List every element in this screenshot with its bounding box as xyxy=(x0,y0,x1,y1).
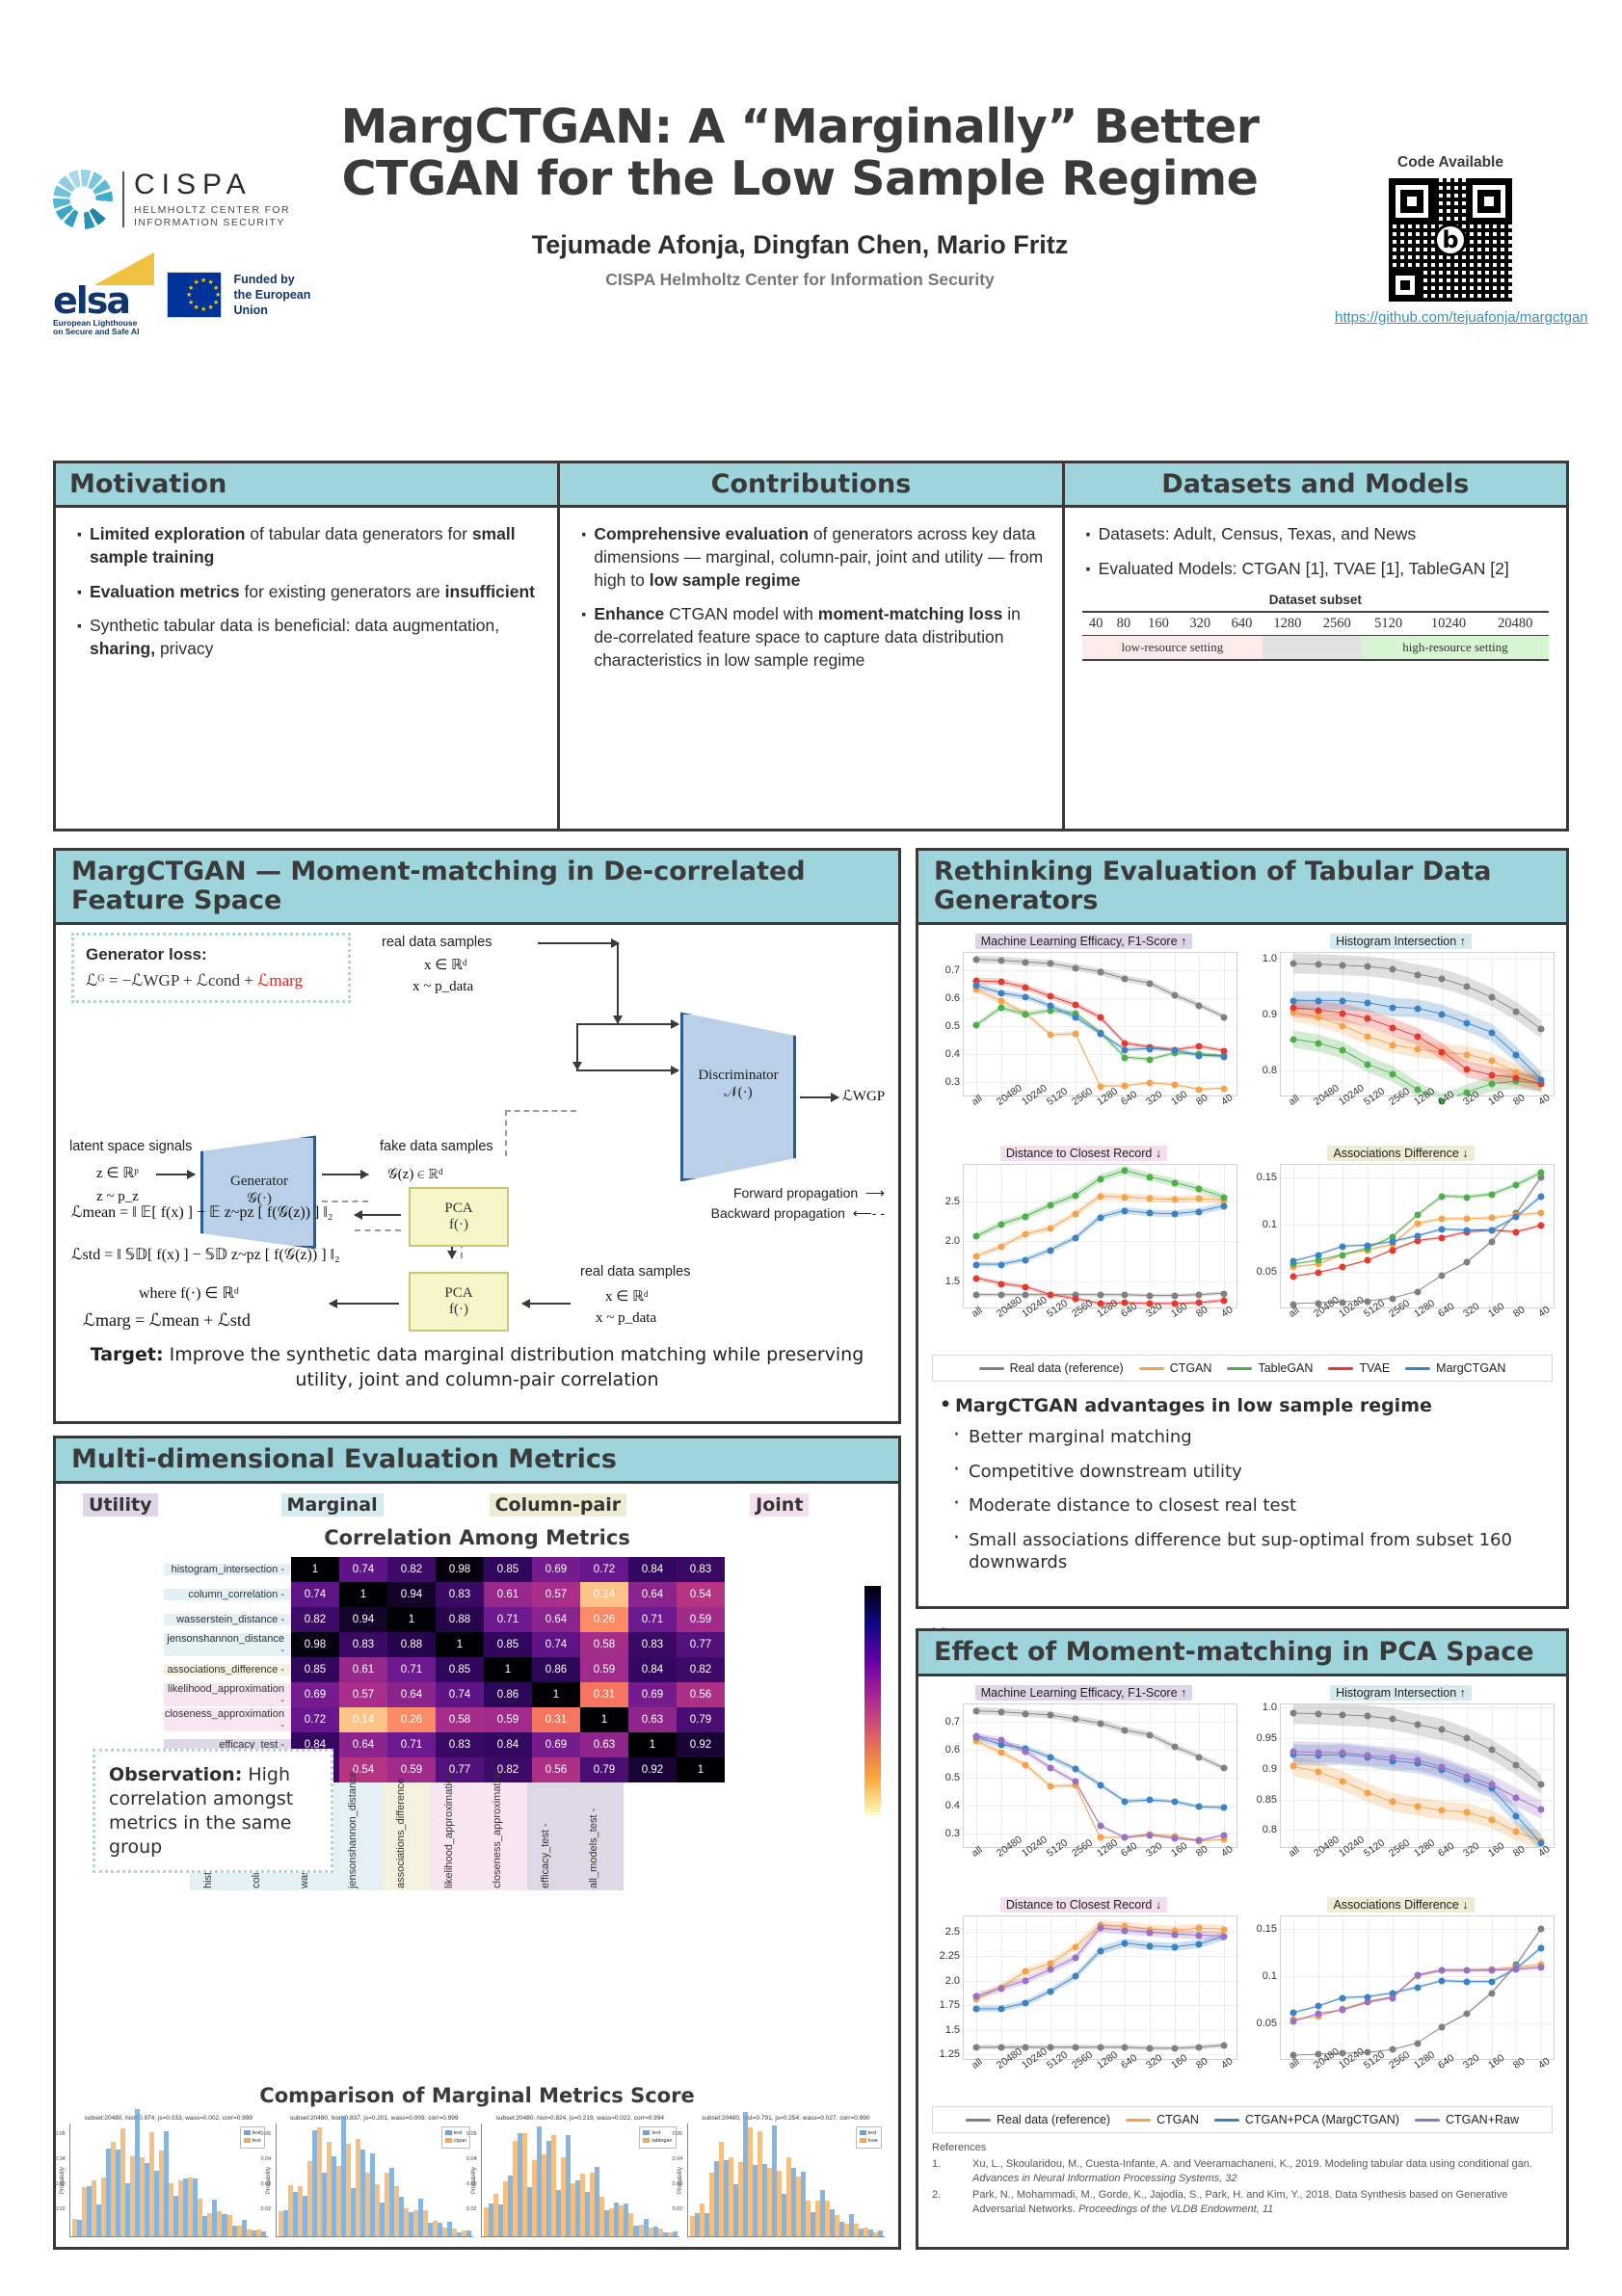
chart-ytick: 1.5 xyxy=(945,1276,960,1287)
heatmap-cell: 0.74 xyxy=(291,1582,339,1607)
chart-data-point xyxy=(1072,1765,1078,1772)
chart-data-point xyxy=(1315,1769,1321,1776)
chart-data-point xyxy=(1171,1931,1178,1938)
chart-data-point xyxy=(1146,1174,1153,1180)
chart-data-point xyxy=(1023,1012,1029,1018)
chart-data-point xyxy=(1439,976,1446,983)
chart-data-point xyxy=(1097,1175,1103,1182)
chart-data-point xyxy=(1048,993,1054,1000)
panel-contributions: Contributions Comprehensive evaluation o… xyxy=(557,463,1061,829)
chart-data-point xyxy=(1365,1713,1371,1720)
chart-data-point xyxy=(1365,1061,1371,1068)
chart-ytick: 0.5 xyxy=(945,1020,960,1032)
chart-data-point xyxy=(1488,1071,1495,1078)
chart-data-point xyxy=(997,998,1004,1005)
chart-data-point xyxy=(1122,1168,1129,1174)
panel-datasets: Datasets and Models Datasets: Adult, Cen… xyxy=(1062,463,1566,829)
rethinking-sub-bullets: Better marginal matchingCompetitive down… xyxy=(940,1426,1545,1573)
heatmap-cell: 0.64 xyxy=(339,1732,387,1757)
chart-data-point xyxy=(1439,1048,1446,1055)
heatmap-cell: 0.14 xyxy=(339,1707,387,1732)
chart-data-point xyxy=(1072,1015,1078,1021)
histogram-bar xyxy=(878,2230,883,2236)
chart-data-point xyxy=(1146,1080,1153,1087)
histogram-ytick: 0.03 xyxy=(55,2181,66,2187)
logo-divider xyxy=(122,172,124,227)
chart-ytick: 0.4 xyxy=(945,1048,960,1060)
histogram-ylabel: Probability xyxy=(678,2166,683,2193)
heatmap-cell: 0.94 xyxy=(339,1607,387,1632)
heatmap-cell: 0.69 xyxy=(532,1557,580,1582)
chart-data-point xyxy=(1488,1227,1495,1234)
heatmap-cell: 0.26 xyxy=(580,1607,628,1632)
forward-prop-label: Forward propagation xyxy=(733,1185,858,1201)
chart-data-point xyxy=(1389,1238,1396,1245)
heatmap-cell: 0.57 xyxy=(532,1582,580,1607)
chart-data-point xyxy=(1340,997,1346,1004)
chart-data-point xyxy=(997,1985,1004,1992)
heatmap-cell: 0.31 xyxy=(532,1707,580,1732)
chart-data-point xyxy=(1315,2011,1321,2018)
heatmap-cell: 0.92 xyxy=(628,1757,677,1782)
dataset-subset-cell: 40 xyxy=(1082,612,1110,636)
chart-data-point xyxy=(1463,1020,1470,1027)
references-list: Xu, L., Skoularidou, M., Cuesta-Infante,… xyxy=(932,2157,1553,2216)
top-panel-row: Motivation Limited exploration of tabula… xyxy=(53,461,1569,831)
heatmap-cell: 1 xyxy=(484,1657,532,1682)
chart-data-point xyxy=(1315,1749,1321,1755)
chart-data-point xyxy=(1122,1054,1129,1061)
chart-title: Distance to Closest Record ↓ xyxy=(1000,1897,1167,1913)
list-item: Evaluated Models: CTGAN [1], TVAE [1], T… xyxy=(1082,558,1549,581)
histogram-caption: subset:20480, hist=0.791, js=0.254, wass… xyxy=(687,2115,886,2122)
dataset-subset-cell: 1280 xyxy=(1263,612,1312,636)
chart-data-point xyxy=(1488,1215,1495,1222)
chart-data-point xyxy=(1023,959,1029,965)
chart-data-point xyxy=(1221,1014,1228,1020)
chart-data-point xyxy=(1072,1943,1078,1950)
chart-data-point xyxy=(1538,1965,1545,1971)
heatmap-cell: 0.31 xyxy=(580,1682,628,1707)
chart-data-point xyxy=(1439,1727,1446,1733)
chart-data-point xyxy=(972,1022,979,1029)
line-chart: Distance to Closest Record ↓1.52.02.5all… xyxy=(930,1147,1237,1349)
chart-data-point xyxy=(1340,1010,1346,1016)
repo-link[interactable]: https://github.com/tejuafonja/margctgan xyxy=(1335,309,1566,328)
list-item: Better marginal matching xyxy=(940,1426,1545,1448)
logo-group: CISPA HELMHOLTZ CENTER FOR INFORMATION S… xyxy=(53,169,323,337)
chart-data-point xyxy=(1072,1002,1078,1009)
chart-data-point xyxy=(1389,1042,1396,1048)
heatmap-cell: 0.84 xyxy=(628,1657,677,1682)
dataset-subset-cell: 80 xyxy=(1109,612,1137,636)
chart-data-point xyxy=(1196,1804,1203,1810)
chart-data-point xyxy=(1488,1238,1495,1245)
chart-data-point xyxy=(1171,1082,1178,1089)
chart-data-point xyxy=(1122,1207,1129,1214)
panel-motivation: Motivation Limited exploration of tabula… xyxy=(56,463,557,829)
legend-item: CTGAN xyxy=(1139,1361,1212,1375)
chart-data-point xyxy=(1146,1832,1153,1838)
motivation-list: Limited exploration of tabular data gene… xyxy=(73,523,540,661)
chart-data-point xyxy=(1072,1211,1078,1218)
heatmap-row-label: histogram_intersection - xyxy=(164,1564,291,1575)
chart-data-point xyxy=(1538,1193,1545,1200)
chart-data-point xyxy=(1097,968,1103,975)
chart-data-point xyxy=(1146,1929,1153,1936)
heatmap-column-label: closeness_approximation - xyxy=(479,1782,527,1890)
heatmap-cell: 0.63 xyxy=(628,1707,677,1732)
chart-data-point xyxy=(1097,1030,1103,1037)
chart-data-point xyxy=(1365,1789,1371,1796)
generator-loss-label: Generator loss: xyxy=(86,945,336,964)
panel-multidim: Multi-dimensional Evaluation Metrics Uti… xyxy=(53,1436,901,2250)
heatmap-cell: 0.69 xyxy=(628,1682,677,1707)
chart-ytick: 0.05 xyxy=(1257,2018,1277,2029)
reference-item: Park, N., Mohammadi, M., Gorde, K., Jajo… xyxy=(932,2188,1553,2217)
chart-data-point xyxy=(1290,1258,1296,1265)
histogram-ytick: 0.04 xyxy=(673,2156,683,2162)
chart-data-point xyxy=(1290,1710,1296,1717)
chart-data-point xyxy=(1221,1290,1228,1297)
chart-data-point xyxy=(1315,1270,1321,1277)
chart-data-point xyxy=(1221,1194,1228,1201)
chart-data-point xyxy=(1146,1045,1153,1052)
rethinking-main-bullet: MargCTGAN advantages in low sample regim… xyxy=(940,1395,1545,1416)
chart-data-point xyxy=(1023,1968,1029,1975)
chart-data-point xyxy=(1315,1040,1321,1046)
chart-data-point xyxy=(1023,1749,1029,1755)
legend-label: CTGAN xyxy=(1157,2113,1199,2126)
histogram-ylabel: Probability xyxy=(60,2166,66,2193)
heatmap-row: histogram_intersection -10.740.820.980.8… xyxy=(164,1557,898,1582)
heatmap-cell: 0.83 xyxy=(339,1632,387,1657)
heatmap-column-label: all_models_test - xyxy=(575,1782,624,1890)
list-item: Comprehensive evaluation of generators a… xyxy=(577,523,1044,592)
chart-data-point xyxy=(1414,1288,1421,1295)
chart-plot-area: 0.050.10.15 xyxy=(1280,1915,1555,2060)
chart-data-point xyxy=(997,1221,1004,1227)
chart-data-point xyxy=(1122,1292,1129,1299)
cispa-wordmark: CISPA xyxy=(134,169,290,201)
chart-ytick: 1.75 xyxy=(940,1999,960,2011)
histogram-plot: Probability0.050.040.030.02testctgan xyxy=(276,2124,474,2237)
legend-label: CTGAN xyxy=(1170,1361,1212,1375)
chart-data-point xyxy=(1048,961,1054,967)
chart-plot-area: 0.80.91.0 xyxy=(1280,952,1555,1096)
chart-data-point xyxy=(1221,1085,1228,1092)
chart-data-point xyxy=(1463,1259,1470,1266)
heatmap-cell: 0.61 xyxy=(339,1657,387,1682)
title-block: MargCTGAN: A “Marginally” Better CTGAN f… xyxy=(289,101,1311,290)
chart-data-point xyxy=(1196,1754,1203,1760)
heatmap-cell: 0.82 xyxy=(387,1557,436,1582)
chart-data-point xyxy=(1122,1194,1129,1201)
heatmap-row-label: wasserstein_distance - xyxy=(164,1614,291,1625)
chart-data-point xyxy=(1538,1925,1545,1932)
legend-label: test xyxy=(454,2130,463,2136)
chart-data-point xyxy=(1389,1994,1396,2001)
chart-data-point xyxy=(1340,1994,1346,2001)
chart-data-point xyxy=(1097,1193,1103,1200)
heatmap-cell: 0.58 xyxy=(580,1632,628,1657)
chart-data-point xyxy=(1513,1829,1520,1835)
chart-data-point xyxy=(1122,1083,1129,1090)
chart-title: Distance to Closest Record ↓ xyxy=(1000,1146,1167,1161)
chart-data-point xyxy=(1513,1008,1520,1015)
heatmap-cell: 0.85 xyxy=(484,1632,532,1657)
chart-data-point xyxy=(1196,1940,1203,1947)
heatmap-row: column_correlation -0.7410.940.830.610.5… xyxy=(164,1582,898,1607)
chart-data-point xyxy=(1463,1967,1470,1974)
chart-data-point xyxy=(1171,1197,1178,1203)
histogram-ytick: 0.05 xyxy=(466,2131,477,2137)
legend-label: test xyxy=(868,2130,877,2136)
chart-data-point xyxy=(1072,1235,1078,1242)
heatmap-cell: 0.69 xyxy=(291,1682,339,1707)
chart-data-point xyxy=(1146,1797,1153,1804)
chart-title: Machine Learning Efficacy, F1-Score ↑ xyxy=(975,1685,1193,1701)
chart-data-point xyxy=(1488,1978,1495,1985)
heatmap-cell: 0.92 xyxy=(677,1732,725,1757)
chart-data-point xyxy=(1097,1947,1103,1954)
chart-data-point xyxy=(1340,1750,1346,1756)
chart-data-point xyxy=(1538,1170,1545,1176)
discriminator-label: Discriminator 𝒩(·) xyxy=(678,1068,798,1101)
chart-data-point xyxy=(1414,1757,1421,1764)
poster-title: MargCTGAN: A “Marginally” Better CTGAN f… xyxy=(289,101,1311,205)
chart-data-point xyxy=(1023,1256,1029,1263)
chart-data-point xyxy=(1048,1966,1054,1973)
heatmap-column-label: jensonshannon_distance - xyxy=(334,1782,383,1890)
comparison-title: Comparison of Marginal Metrics Score xyxy=(56,2084,898,2107)
chart-data-point xyxy=(1023,1710,1029,1717)
chart-data-point xyxy=(1290,1036,1296,1042)
chart-data-point xyxy=(1315,1710,1321,1717)
chart-ytick: 0.9 xyxy=(1263,1763,1277,1775)
legend-label: test xyxy=(253,2138,261,2144)
heatmap-cell: 0.88 xyxy=(436,1607,484,1632)
real-x-dim-bottom: x ∈ ℝᵈ xyxy=(605,1287,649,1306)
chart-data-point xyxy=(1389,1295,1396,1302)
chart-data-point xyxy=(1072,2044,1078,2050)
chart-data-point xyxy=(1171,1943,1178,1950)
chart-data-point xyxy=(1414,1046,1421,1053)
poster-header: CISPA HELMHOLTZ CENTER FOR INFORMATION S… xyxy=(0,0,1622,443)
low-resource-cell: low-resource setting xyxy=(1082,635,1263,660)
chart-data-point xyxy=(1340,963,1346,969)
chart-data-point xyxy=(1439,1764,1446,1771)
legend-item: CTGAN+PCA (MargCTGAN) xyxy=(1214,2113,1399,2126)
chart-data-point xyxy=(1048,1292,1054,1299)
heatmap-cell: 0.59 xyxy=(580,1657,628,1682)
chart-data-point xyxy=(972,1292,979,1299)
heatmap-cell: 0.86 xyxy=(484,1682,532,1707)
chart-data-point xyxy=(1389,1247,1396,1254)
heatmap-cell: 0.83 xyxy=(628,1632,677,1657)
chart-data-point xyxy=(1048,1755,1054,1761)
chart-data-point xyxy=(1048,1783,1054,1790)
chart-data-point xyxy=(1414,1722,1421,1729)
chart-data-point xyxy=(1513,1074,1520,1081)
reference-item: Xu, L., Skoularidou, M., Cuesta-Infante,… xyxy=(932,2157,1553,2186)
chart-data-point xyxy=(972,1993,979,1999)
chart-ytick: 1.0 xyxy=(1263,953,1277,964)
chart-data-point xyxy=(1315,1015,1321,1021)
histogram-bar xyxy=(261,2231,266,2236)
bitly-glyph-icon: b xyxy=(1434,224,1467,256)
chart-data-point xyxy=(1072,964,1078,971)
heatmap-column-label: associations_difference - xyxy=(383,1782,431,1890)
chart-data-point xyxy=(1048,1202,1054,1209)
heatmap-cell: 0.71 xyxy=(484,1607,532,1632)
chart-data-point xyxy=(1315,1007,1321,1014)
chart-data-point xyxy=(1439,1977,1446,1984)
chart-ytick: 2.0 xyxy=(945,1235,960,1247)
chart-data-point xyxy=(1097,1214,1103,1221)
chart-data-point xyxy=(1048,1247,1054,1254)
chart-ytick: 0.7 xyxy=(945,1716,960,1728)
histogram-ytick: 0.02 xyxy=(55,2206,66,2212)
chart-data-point xyxy=(1122,1798,1129,1805)
chart-data-point xyxy=(1513,1229,1520,1236)
histogram-plot: Probability0.050.040.030.02testtvae xyxy=(687,2124,886,2237)
heatmap-cell: 0.79 xyxy=(580,1757,628,1782)
chart-data-point xyxy=(997,1261,1004,1268)
chart-data-point xyxy=(1290,1763,1296,1770)
heatmap-cell: 0.71 xyxy=(628,1607,677,1632)
chart-data-point xyxy=(997,979,1004,986)
chart-data-point xyxy=(1023,1292,1029,1299)
chart-data-point xyxy=(1439,1967,1446,1974)
chart-data-point xyxy=(1122,1940,1129,1946)
chart-data-point xyxy=(1023,1213,1029,1220)
eq-mean: ℒmean = ‖ 𝔼[ f(x) ] − 𝔼 z~pz [ f(𝒢(z)) ]… xyxy=(71,1202,332,1222)
heatmap-cell: 0.84 xyxy=(484,1732,532,1757)
chart-data-point xyxy=(1097,1925,1103,1932)
chart-data-point xyxy=(997,1737,1004,1744)
histogram-ytick: 0.03 xyxy=(673,2181,683,2187)
histogram-ytick: 0.05 xyxy=(261,2131,272,2137)
elsa-logo: elsa European Lighthouse on Secure and S… xyxy=(53,252,154,337)
heatmap-cell: 0.98 xyxy=(291,1632,339,1657)
chart-data-point xyxy=(1122,2044,1129,2050)
heatmap-column-label: likelihood_approximation - xyxy=(431,1782,479,1890)
chart-data-point xyxy=(1488,1081,1495,1088)
chart-data-point xyxy=(1097,1834,1103,1841)
chart-data-point xyxy=(1513,1052,1520,1059)
legend-label: Real data (reference) xyxy=(997,2113,1110,2126)
chart-data-point xyxy=(1315,997,1321,1004)
panel-margctgan: MargCTGAN — Moment-matching in De-correl… xyxy=(53,848,901,1424)
chart-data-point xyxy=(1048,1226,1054,1232)
high-resource-cell: high-resource setting xyxy=(1362,635,1549,660)
heatmap-cell: 0.82 xyxy=(677,1657,725,1682)
latent-label: latent space signals xyxy=(69,1139,192,1154)
chart-data-point xyxy=(1538,1210,1545,1217)
chart-data-point xyxy=(1340,2007,1346,2014)
chart-data-point xyxy=(1513,1214,1520,1221)
chart-data-point xyxy=(1463,1227,1470,1234)
chart-data-point xyxy=(1023,1761,1029,1768)
chart-ytick: 0.3 xyxy=(945,1076,960,1088)
chart-data-point xyxy=(1414,1804,1421,1810)
chart-data-point xyxy=(1146,1942,1153,1949)
line-chart: Histogram Intersection ↑0.80.850.90.951.… xyxy=(1247,1686,1555,1888)
margctgan-target: Target: Improve the synthetic data margi… xyxy=(56,1339,898,1402)
heatmap-cell: 0.71 xyxy=(387,1732,436,1757)
heatmap-cell: 1 xyxy=(628,1732,677,1757)
heatmap-cell: 0.98 xyxy=(436,1557,484,1582)
eu-flag-icon: ★★★★★★★★★★★★ xyxy=(167,272,222,318)
chart-data-point xyxy=(1048,1764,1054,1771)
chart-data-point xyxy=(1463,1978,1470,1985)
chart-data-point xyxy=(1365,1242,1371,1249)
chart-data-point xyxy=(1196,1932,1203,1939)
chart-data-point xyxy=(1538,1807,1545,1813)
chart-data-point xyxy=(1196,1186,1203,1193)
heatmap-row-label: closeness_approximation - xyxy=(164,1708,291,1731)
histogram-legend: testctgan xyxy=(441,2126,470,2149)
chart-ytick: 0.95 xyxy=(1257,1732,1277,1744)
chart-data-point xyxy=(1513,1812,1520,1819)
chart-ytick: 2.5 xyxy=(945,1196,960,1207)
chart-data-point xyxy=(1488,1747,1495,1754)
chart-data-point xyxy=(1439,2023,1446,2030)
line-chart: Machine Learning Efficacy, F1-Score ↑0.3… xyxy=(930,1686,1237,1888)
poster-root: CISPA HELMHOLTZ CENTER FOR INFORMATION S… xyxy=(0,0,1622,2296)
chart-data-point xyxy=(1365,1033,1371,1040)
legend-label: Real data (reference) xyxy=(1010,1361,1124,1375)
heatmap-cell: 0.74 xyxy=(339,1557,387,1582)
chart-data-point xyxy=(1439,1216,1446,1223)
legend-item: Real data (reference) xyxy=(966,2113,1110,2126)
line-chart: Associations Difference ↓0.050.10.15all2… xyxy=(1247,1898,1555,2100)
heatmap-cell: 0.64 xyxy=(532,1607,580,1632)
legend-label: tablegan xyxy=(651,2138,672,2144)
chart-data-point xyxy=(1290,2019,1296,2025)
histogram-ytick: 0.03 xyxy=(466,2181,477,2187)
chart-data-point xyxy=(1414,1972,1421,1979)
legend-item: MargCTGAN xyxy=(1405,1361,1505,1375)
chart-data-point xyxy=(1463,2011,1470,2018)
chart-data-point xyxy=(1389,966,1396,973)
chart-plot-area: 0.30.40.50.60.7 xyxy=(963,1703,1237,1848)
generator-loss-box: Generator loss: ℒᴳ = −ℒWGP + ℒcond + ℒma… xyxy=(71,933,351,1003)
chart-data-point xyxy=(1171,1179,1178,1186)
heatmap-cell: 0.85 xyxy=(291,1657,339,1682)
heatmap-cell: 0.85 xyxy=(436,1657,484,1682)
heatmap-cell: 0.74 xyxy=(436,1682,484,1707)
line-chart: Histogram Intersection ↑0.80.91.0all2048… xyxy=(1247,935,1555,1137)
qr-code-icon[interactable]: b xyxy=(1389,178,1512,302)
chart-data-point xyxy=(1196,2044,1203,2050)
chart-data-point xyxy=(1365,963,1371,970)
chart-data-point xyxy=(1463,1773,1470,1780)
heatmap-row: closeness_approximation -0.720.140.260.5… xyxy=(164,1707,898,1732)
chart-data-point xyxy=(997,2044,1004,2050)
chart-data-point xyxy=(1340,1712,1346,1719)
dataset-subset-cell: 20480 xyxy=(1482,612,1549,636)
dataset-subset-cell: 320 xyxy=(1180,612,1221,636)
chart-data-point xyxy=(1196,1925,1203,1932)
chart-data-point xyxy=(1439,1273,1446,1280)
chart-data-point xyxy=(1414,1984,1421,1991)
chart-data-point xyxy=(1414,1033,1421,1040)
cispa-subtitle-line2: INFORMATION SECURITY xyxy=(134,217,290,229)
cispa-logo: CISPA HELMHOLTZ CENTER FOR INFORMATION S… xyxy=(53,169,323,229)
heatmap-cell: 0.71 xyxy=(387,1657,436,1682)
